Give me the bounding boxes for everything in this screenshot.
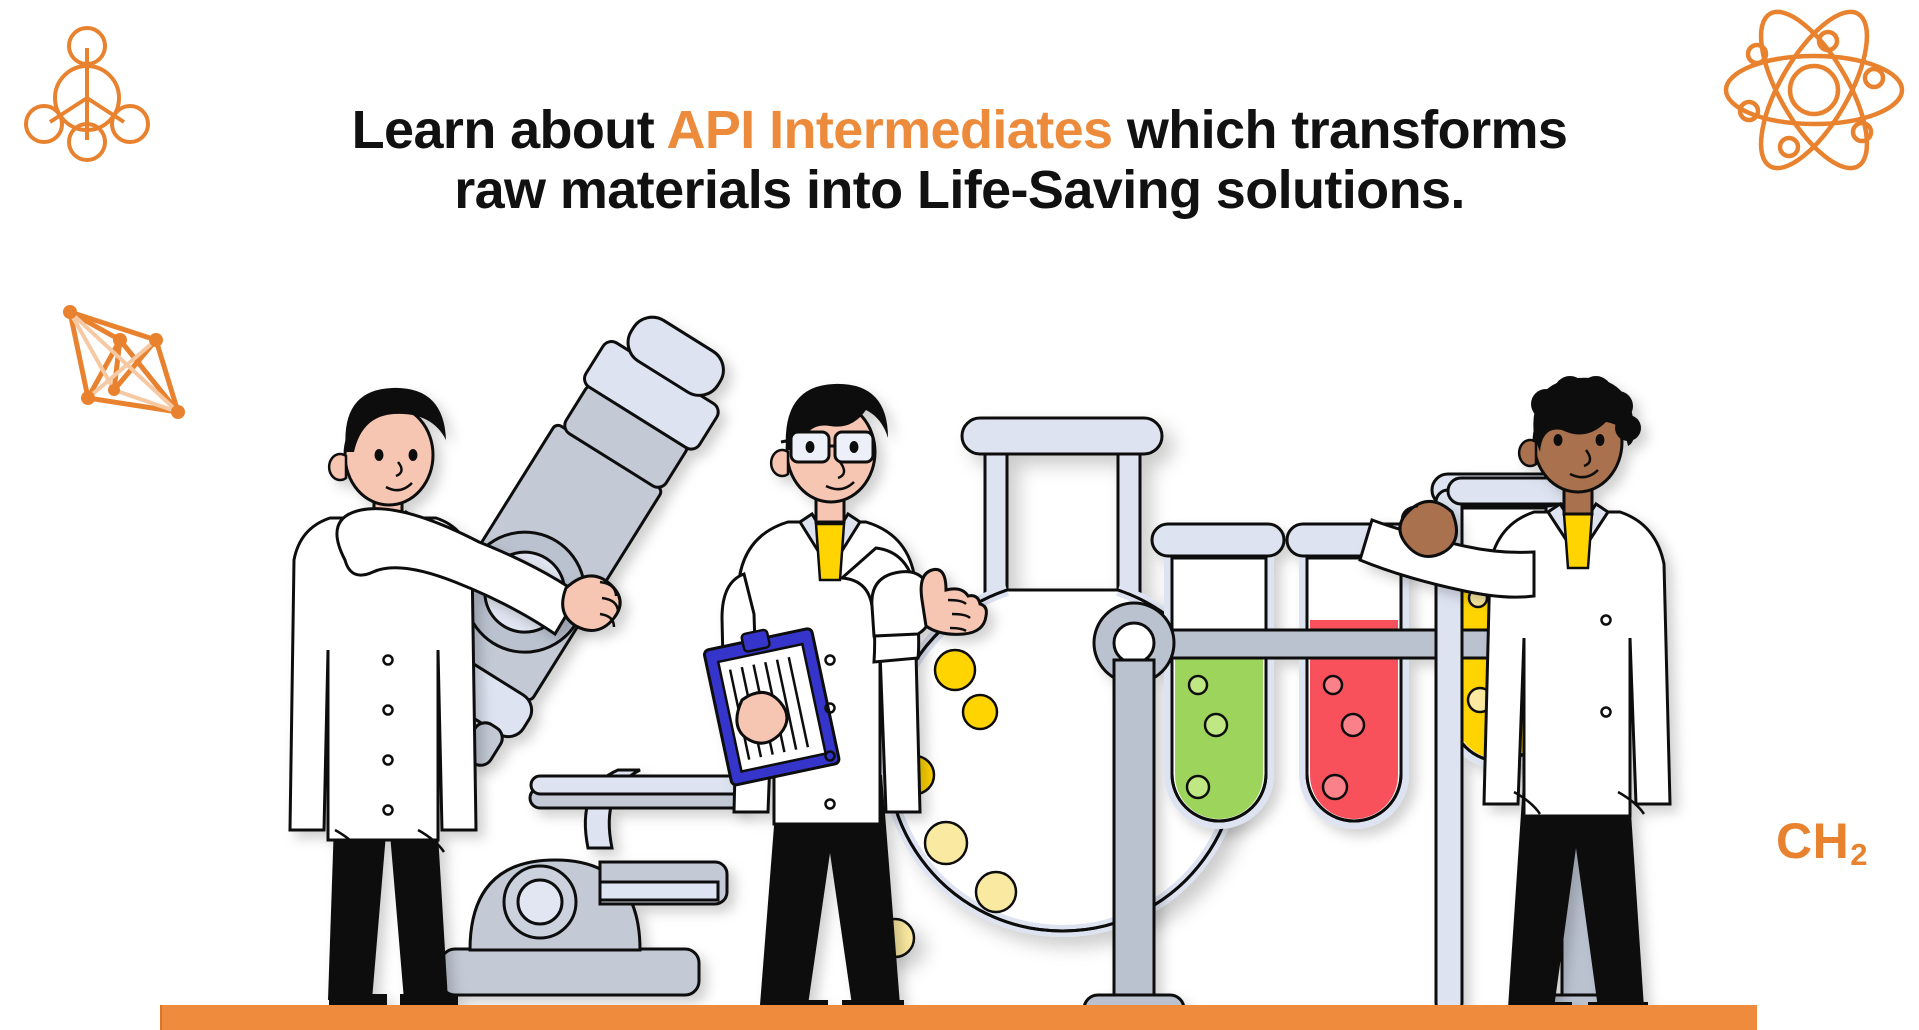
ch2-subscript: 2: [1850, 837, 1868, 872]
ch2-main: CH: [1776, 813, 1849, 869]
banner-root: Learn about API Intermediates which tran…: [0, 0, 1919, 1030]
ch2-formula-label: CH2: [1776, 812, 1867, 870]
test-tube-green: [1152, 524, 1284, 840]
safety-glasses-icon: [781, 432, 873, 462]
laboratory-illustration: [0, 0, 1919, 1030]
table-surface: [160, 1005, 1757, 1030]
